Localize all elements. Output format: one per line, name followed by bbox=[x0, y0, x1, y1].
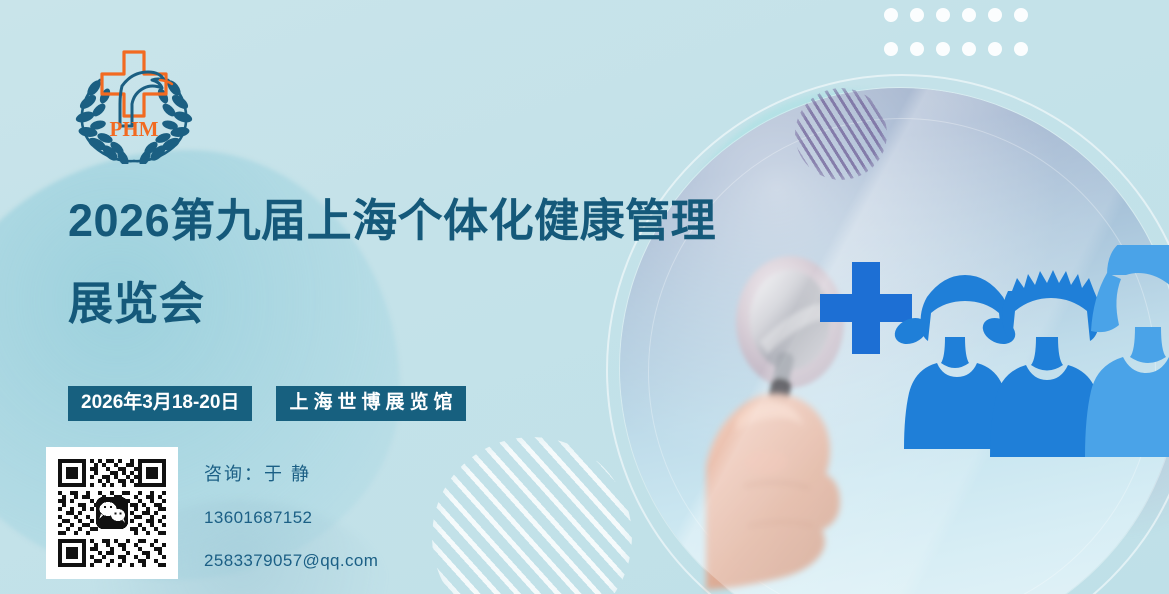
contact-email: 2583379057@qq.com bbox=[204, 552, 378, 569]
contact-info: 咨询：于 静 13601687152 2583379057@qq.com bbox=[204, 465, 378, 569]
logo-text: PHM bbox=[110, 117, 159, 141]
date-badge: 2026年3月18-20日 bbox=[68, 386, 252, 421]
phm-logo: PHM bbox=[64, 44, 204, 164]
wechat-qr-code[interactable] bbox=[46, 447, 178, 579]
page-title: 2026第九届上海个体化健康管理 展览会 bbox=[68, 198, 768, 326]
contact-phone: 13601687152 bbox=[204, 509, 378, 526]
family-silhouettes-icon bbox=[885, 245, 1169, 495]
event-badges: 2026年3月18-20日 上海世博展览馆 bbox=[68, 386, 466, 421]
white-dot-grid-icon bbox=[884, 8, 1040, 76]
promotional-banner: PHM 2026第九届上海个体化健康管理 展览会 2026年3月18-20日 上… bbox=[0, 0, 1169, 594]
contact-person: 咨询：于 静 bbox=[204, 465, 378, 483]
venue-badge: 上海世博展览馆 bbox=[276, 386, 466, 421]
title-line-1: 2026第九届上海个体化健康管理 bbox=[68, 198, 768, 243]
title-line-2: 展览会 bbox=[68, 281, 768, 326]
wechat-icon bbox=[96, 497, 128, 529]
